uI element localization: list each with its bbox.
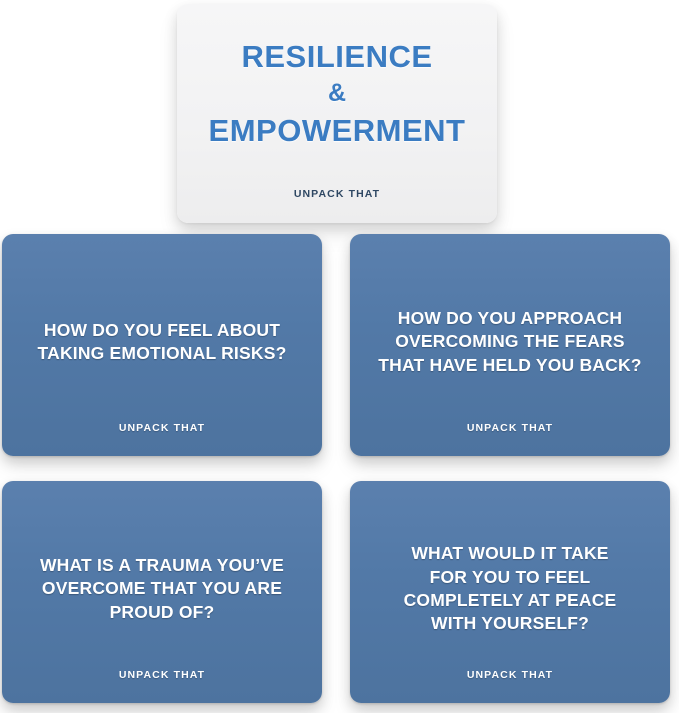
brand-label-title-card: UNPACK THAT	[177, 188, 497, 200]
brand-label: UNPACK THAT	[2, 669, 322, 681]
question-text: HOW DO YOU FEEL ABOUT TAKING EMOTIONAL R…	[18, 319, 306, 366]
title-line-empowerment: EMPOWERMENT	[177, 114, 497, 147]
title-card[interactable]: RESILIENCE & EMPOWERMENT UNPACK THAT	[177, 4, 497, 223]
question-text: WHAT IS A TRAUMA YOU’VE OVERCOME THAT YO…	[18, 554, 306, 624]
question-card-trauma-overcome[interactable]: WHAT IS A TRAUMA YOU’VE OVERCOME THAT YO…	[2, 481, 322, 703]
title-line-ampersand: &	[177, 80, 497, 107]
brand-label: UNPACK THAT	[2, 422, 322, 434]
title-line-resilience: RESILIENCE	[177, 40, 497, 73]
question-text: HOW DO YOU APPROACH OVERCOMING THE FEARS…	[366, 307, 654, 377]
question-card-at-peace[interactable]: WHAT WOULD IT TAKE FOR YOU TO FEEL COMPL…	[350, 481, 670, 703]
brand-label: UNPACK THAT	[350, 669, 670, 681]
title-text-block: RESILIENCE & EMPOWERMENT	[177, 40, 497, 148]
card-set-stage: RESILIENCE & EMPOWERMENT UNPACK THAT HOW…	[0, 0, 679, 713]
brand-label: UNPACK THAT	[350, 422, 670, 434]
question-text: WHAT WOULD IT TAKE FOR YOU TO FEEL COMPL…	[366, 542, 654, 635]
question-card-overcoming-fears[interactable]: HOW DO YOU APPROACH OVERCOMING THE FEARS…	[350, 234, 670, 456]
question-card-emotional-risks[interactable]: HOW DO YOU FEEL ABOUT TAKING EMOTIONAL R…	[2, 234, 322, 456]
